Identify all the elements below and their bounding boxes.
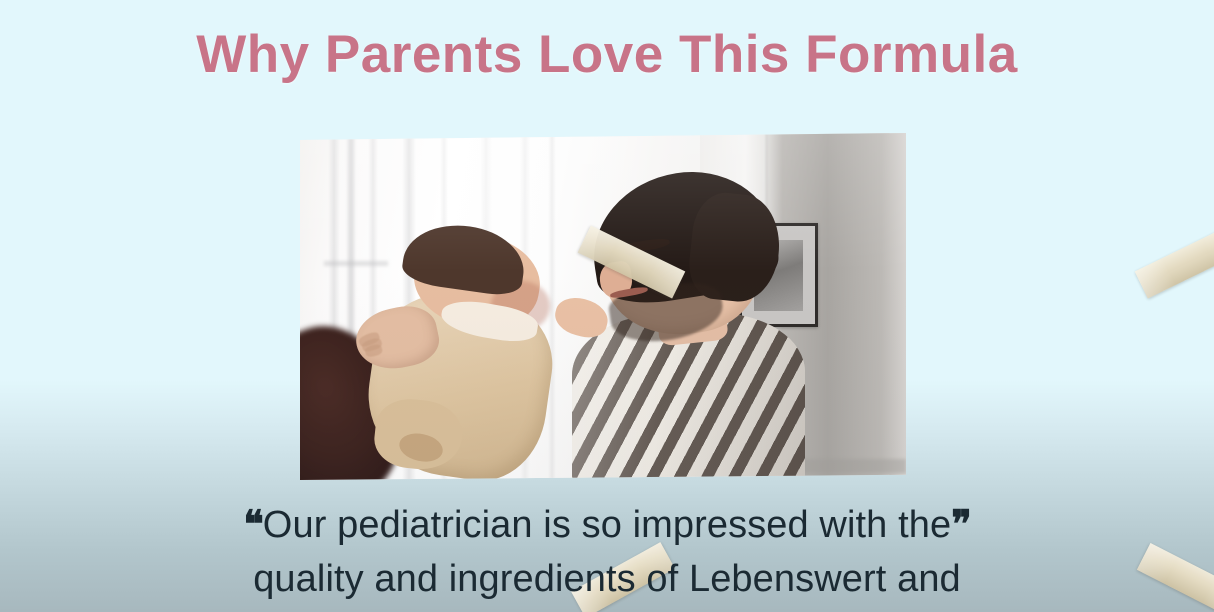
- slide-canvas: Why Parents Love This Formula: [0, 0, 1214, 612]
- baby-hand: [551, 293, 612, 341]
- photo-image: [300, 133, 906, 480]
- testimonial-quote: ❝Our pediatrician is so impressed with t…: [0, 498, 1214, 606]
- quote-close-icon: ❞: [951, 504, 970, 546]
- baby-figure: [361, 244, 603, 473]
- quote-line-2-text: quality and ingredients of Lebenswert an…: [0, 552, 1214, 606]
- quote-line-1-text: Our pediatrician is so impressed with th…: [263, 504, 951, 546]
- page-title: Why Parents Love This Formula: [0, 24, 1214, 85]
- quote-open-icon: ❝: [243, 504, 262, 546]
- window-mullion: [348, 133, 354, 348]
- photo-scene: [300, 133, 906, 480]
- photo-card: [300, 133, 906, 480]
- quote-line-1: ❝Our pediatrician is so impressed with t…: [0, 498, 1214, 552]
- tape-top-right: [1135, 226, 1214, 299]
